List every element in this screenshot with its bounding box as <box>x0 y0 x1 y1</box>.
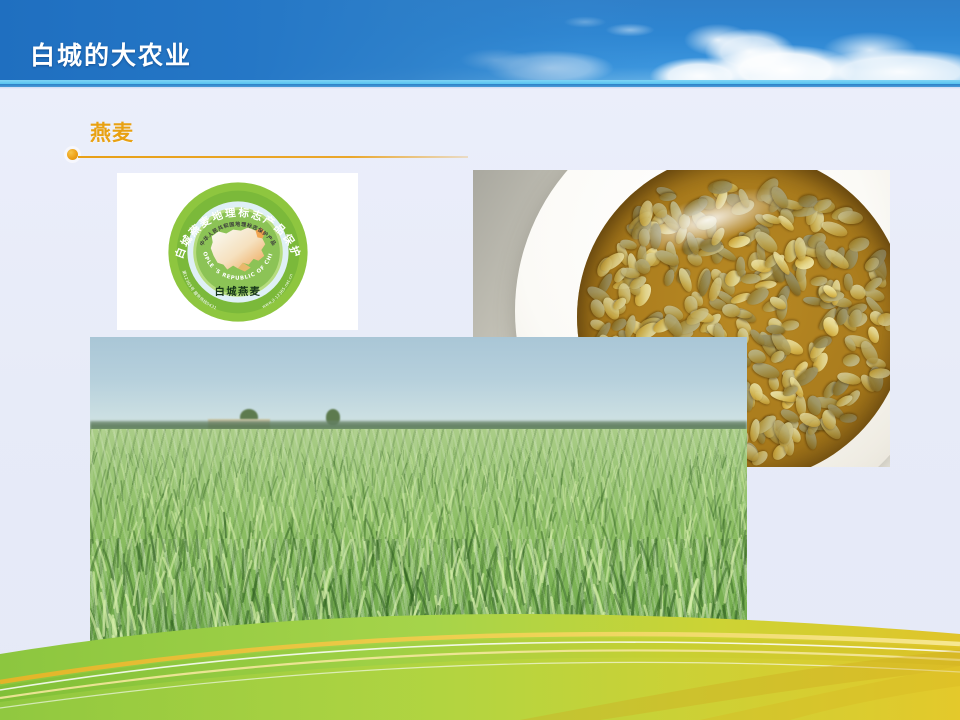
oat-stalk <box>680 599 683 634</box>
oat-stalk <box>531 451 535 462</box>
oat-stalk <box>548 586 549 620</box>
oat-stalk <box>449 515 454 540</box>
oat-stalk <box>444 500 445 523</box>
oat-stalk <box>722 631 724 659</box>
oat-stalk <box>626 492 627 514</box>
oat-stalk <box>121 464 125 480</box>
oat-stalk <box>145 447 146 454</box>
oat-stalk <box>341 499 343 522</box>
oat-stalk <box>384 498 390 521</box>
oat-stalk <box>378 612 391 648</box>
oat-stalk <box>117 499 120 522</box>
oat-stalk <box>141 476 144 495</box>
oat-stalk <box>495 501 498 524</box>
oat-stalk <box>694 449 695 458</box>
oat-stalk <box>589 448 590 456</box>
oat-stalk <box>230 523 238 549</box>
geographical-indication-seal: 白城燕麦地理标志产品保护 中华人民共和国地理标志保护产品 PEOPLE ′S R… <box>117 173 358 330</box>
oat-stalk <box>480 488 487 509</box>
oat-stalk <box>715 496 716 518</box>
oat-stalk <box>210 502 211 525</box>
oat-stalk <box>647 501 648 524</box>
oat-stalk <box>563 485 565 505</box>
oat-stalk <box>472 603 474 638</box>
oat-stalk <box>373 502 379 525</box>
oat-stalk <box>646 450 649 460</box>
oat-stalk <box>645 606 653 641</box>
oat-stalk <box>136 471 138 488</box>
oat-stalk <box>542 532 547 560</box>
oat-stalk <box>594 525 600 552</box>
oat-stalk <box>284 550 290 580</box>
oat-stalk <box>512 477 514 496</box>
oat-stalk <box>499 498 507 521</box>
oat-stalk <box>304 618 309 655</box>
oat-stalk <box>285 448 288 456</box>
oat-stalk <box>280 528 290 555</box>
oat-stalk <box>745 536 746 564</box>
oat-stalk <box>730 448 733 457</box>
oat-stalk <box>404 448 405 457</box>
oat-stalk <box>555 461 557 476</box>
oat-stalk <box>459 625 469 659</box>
oat-stalk <box>280 634 282 659</box>
oat-stalk <box>291 462 293 477</box>
oat-stalk <box>218 472 223 490</box>
oat-stalk <box>551 459 552 473</box>
oat-stalk <box>740 512 741 537</box>
oat-stalk <box>347 457 348 470</box>
oat-stalk <box>563 450 566 460</box>
oat-stalk <box>235 452 239 463</box>
oat-stalk <box>113 616 115 652</box>
oat-stalk <box>151 460 152 475</box>
oat-stalk <box>157 464 163 480</box>
oat-stalk <box>195 447 196 454</box>
oat-stalk <box>172 563 181 594</box>
oat-stalk <box>661 620 666 657</box>
oat-stalk <box>524 475 528 493</box>
oat-stalk <box>138 447 139 454</box>
oat-stalk <box>430 657 433 659</box>
oat-stalk <box>204 502 207 525</box>
oat-stalk <box>255 456 258 469</box>
oat-stalk <box>95 447 97 453</box>
oat-stalk <box>678 450 679 460</box>
oat-stalk <box>107 451 111 462</box>
oat-stalk <box>707 461 712 476</box>
oat-stalk <box>218 515 219 540</box>
oat-stalk <box>138 544 140 573</box>
oat-stalk <box>424 460 425 475</box>
oat-stalk <box>391 542 396 571</box>
oat-stalk <box>142 459 146 473</box>
oat-stalk <box>685 515 686 540</box>
oat-stalk <box>409 653 420 659</box>
oat-stalk <box>138 650 149 659</box>
oat-stalk <box>460 453 464 465</box>
oat-stalk <box>287 579 292 612</box>
field-sky <box>90 337 747 431</box>
oat-stalk <box>146 545 150 574</box>
oat-stalk <box>114 467 116 484</box>
oat-stalk <box>496 623 498 659</box>
oat-crop <box>90 429 747 659</box>
oat-stalk <box>435 448 436 456</box>
oat-stalk <box>365 515 366 540</box>
oat-stalk <box>340 449 341 458</box>
oat-stalk <box>168 646 176 660</box>
oat-stalk <box>315 447 316 454</box>
oat-stalk <box>106 484 110 504</box>
oat-stalk <box>715 447 716 453</box>
oat-stalk <box>351 533 358 561</box>
oat-stalk <box>132 449 134 458</box>
oat-stalk <box>217 557 226 588</box>
oat-stalk <box>208 593 216 627</box>
oat-stalk <box>619 449 621 458</box>
oat-stalk <box>277 456 280 469</box>
oat-stalk <box>192 449 194 459</box>
oat-stalk <box>136 455 139 468</box>
oat-stalk <box>319 448 321 456</box>
oat-field-photo <box>90 337 747 659</box>
oat-stalk <box>280 507 283 531</box>
oat-flake <box>663 269 676 288</box>
oat-stalk <box>128 506 133 530</box>
oat-stalk <box>618 469 620 486</box>
oat-stalk <box>448 447 449 454</box>
oat-stalk <box>531 658 532 660</box>
oat-stalk <box>578 601 584 636</box>
oat-stalk <box>500 472 501 490</box>
oat-stalk <box>280 462 285 477</box>
oat-stalk <box>293 480 296 499</box>
oat-flake <box>727 234 751 250</box>
oat-stalk <box>400 447 401 454</box>
oat-stalk <box>575 447 577 454</box>
oat-stalk <box>288 468 290 485</box>
oat-stalk <box>636 455 639 468</box>
oat-stalk <box>411 512 413 537</box>
seal-product-name: 白城燕麦 <box>214 284 261 297</box>
oat-stalk <box>314 535 318 563</box>
oat-stalk <box>682 451 683 462</box>
oat-stalk <box>576 584 581 617</box>
oat-stalk <box>451 489 453 510</box>
oat-stalk <box>361 447 362 454</box>
oat-stalk <box>472 447 475 454</box>
oat-stalk <box>621 455 622 467</box>
oat-stalk <box>585 473 588 491</box>
oat-stalk <box>473 565 474 596</box>
oat-stalk <box>501 473 505 491</box>
oat-stalk <box>682 478 686 497</box>
oat-stalk <box>101 470 105 487</box>
oat-stalk <box>209 475 211 493</box>
bullet-dot-icon <box>67 149 78 160</box>
oat-stalk <box>518 638 528 659</box>
oat-stalk <box>435 483 438 503</box>
oat-stalk <box>329 480 333 500</box>
oat-stalk <box>454 469 458 486</box>
oat-stalk <box>451 571 456 603</box>
oat-stalk <box>341 528 345 555</box>
oat-stalk <box>386 597 388 632</box>
oat-stalk <box>207 642 219 659</box>
oat-stalk <box>118 539 119 567</box>
oat-stalk <box>353 493 356 515</box>
oat-stalk <box>712 449 715 458</box>
oat-stalk <box>376 474 377 492</box>
oat-stalk <box>193 460 194 474</box>
oat-flake <box>736 257 745 277</box>
oat-stalk <box>236 478 237 497</box>
oat-stalk <box>385 477 386 496</box>
oat-stalk <box>341 576 343 609</box>
oat-stalk <box>420 473 422 491</box>
oat-stalk <box>397 454 401 466</box>
oat-stalk <box>601 460 602 475</box>
oat-stalk <box>94 452 97 463</box>
oat-stalk <box>578 643 582 660</box>
oat-stalk <box>195 508 203 532</box>
oat-stalk <box>540 447 542 454</box>
oat-stalk <box>555 449 557 458</box>
oat-stalk <box>91 452 92 463</box>
oat-stalk <box>385 454 387 466</box>
oat-stalk <box>90 517 93 543</box>
oat-stalk <box>372 468 373 485</box>
oat-stalk <box>702 474 706 492</box>
oat-stalk <box>418 479 420 498</box>
oat-stalk <box>446 483 447 503</box>
oat-stalk <box>713 460 717 474</box>
oat-stalk <box>238 490 241 511</box>
oat-flake <box>638 228 650 246</box>
oat-stalk <box>174 580 175 613</box>
page-title: 白城的大农业 <box>30 36 192 72</box>
oat-stalk <box>661 576 663 609</box>
oat-stalk <box>487 473 489 491</box>
oat-stalk <box>393 619 402 656</box>
oat-stalk <box>446 564 449 595</box>
oat-stalk <box>264 457 268 471</box>
oat-stalk <box>281 449 282 458</box>
oat-stalk <box>588 636 602 659</box>
oat-stalk <box>162 456 166 469</box>
oat-stalk <box>226 589 230 623</box>
oat-stalk <box>490 447 491 453</box>
gi-seal-graphic: 白城燕麦地理标志产品保护 中华人民共和国地理标志保护产品 PEOPLE ′S R… <box>165 179 311 325</box>
oat-stalk <box>259 540 260 569</box>
oat-stalk <box>604 656 617 659</box>
oat-stalk <box>736 635 747 659</box>
oat-stalk <box>675 449 676 458</box>
oat-stalk <box>610 584 621 617</box>
oat-stalk <box>184 473 186 491</box>
oat-stalk <box>349 570 350 602</box>
oat-stalk <box>490 453 494 465</box>
oat-stalk <box>393 451 395 462</box>
oat-flake <box>837 210 863 225</box>
oat-stalk <box>733 455 735 467</box>
oat-stalk <box>376 447 378 453</box>
oat-stalk <box>605 499 607 522</box>
oat-stalk <box>561 525 567 552</box>
oat-stalk <box>373 538 374 566</box>
oat-stalk <box>387 515 392 540</box>
oat-stalk <box>580 461 585 476</box>
oat-stalk <box>570 606 572 641</box>
oat-stalk <box>106 447 107 453</box>
oat-stalk <box>121 481 123 501</box>
oat-stalk <box>546 463 549 478</box>
oat-stalk <box>701 562 703 593</box>
oat-stalk <box>92 451 93 462</box>
oat-stalk <box>179 480 181 499</box>
oat-stalk <box>640 634 643 659</box>
oat-stalk <box>94 656 102 659</box>
oat-stalk <box>735 468 736 485</box>
oat-stalk <box>738 452 741 463</box>
oat-stalk <box>594 588 603 622</box>
oat-stalk <box>731 536 741 564</box>
oat-stalk <box>514 550 516 580</box>
oat-stalk <box>420 635 422 659</box>
oat-stalk <box>516 530 519 557</box>
oat-stalk <box>676 635 684 659</box>
oat-stalk <box>632 583 634 616</box>
oat-stalk <box>99 448 100 456</box>
oat-flake <box>840 414 857 424</box>
oat-stalk <box>435 606 438 642</box>
oat-stalk <box>271 448 273 456</box>
oat-stalk <box>151 532 154 560</box>
oat-stalk <box>719 507 721 531</box>
oat-stalk <box>391 509 396 534</box>
oat-stalk <box>282 483 286 503</box>
oat-stalk <box>358 450 360 460</box>
oat-stalk <box>469 602 470 637</box>
oat-stalk <box>260 457 263 470</box>
oat-stalk <box>331 587 340 621</box>
oat-stalk <box>262 524 272 551</box>
oat-stalk <box>273 453 274 465</box>
oat-stalk <box>331 503 333 527</box>
oat-stalk <box>254 495 255 517</box>
oat-stalk <box>602 502 604 525</box>
oat-stalks <box>90 429 747 659</box>
oat-stalk <box>210 538 212 566</box>
oat-stalk <box>464 457 465 470</box>
oat-stalk <box>362 479 365 498</box>
oat-stalk <box>332 467 335 483</box>
oat-stalk <box>229 518 231 544</box>
oat-stalk <box>724 463 730 478</box>
slide-canvas: 白城的大农业 燕麦 <box>0 0 960 720</box>
oat-stalk <box>526 502 527 525</box>
oat-stalk <box>103 447 106 454</box>
oat-stalk <box>571 447 573 453</box>
oat-stalk <box>143 499 145 522</box>
oat-stalk <box>478 455 481 468</box>
oat-stalk <box>370 498 372 521</box>
oat-stalk <box>292 609 294 645</box>
section-subtitle: 燕麦 <box>90 117 134 147</box>
oat-stalk <box>122 641 123 659</box>
oat-stalk <box>431 453 432 465</box>
oat-stalk <box>273 507 276 531</box>
oat-stalk <box>656 538 658 566</box>
oat-stalk <box>125 563 133 594</box>
oat-stalk <box>560 479 562 498</box>
oat-stalk <box>407 512 408 537</box>
oat-stalk <box>724 449 726 458</box>
oat-stalk <box>416 496 423 518</box>
oat-stalk <box>164 594 167 628</box>
oat-stalk <box>194 457 195 471</box>
oat-stalk <box>482 476 485 495</box>
oat-stalk <box>96 542 106 571</box>
slide-header: 白城的大农业 <box>0 0 960 86</box>
oat-stalk <box>526 458 530 472</box>
oat-stalk <box>271 461 272 476</box>
oat-stalk <box>601 523 611 549</box>
oat-stalk <box>741 577 744 610</box>
oat-stalk <box>94 491 99 512</box>
oat-stalk <box>497 450 499 460</box>
oat-stalk <box>107 464 109 480</box>
oat-stalk <box>286 658 298 659</box>
oat-stalk <box>711 480 714 499</box>
oat-stalk <box>466 507 469 531</box>
oat-stalk <box>380 451 381 461</box>
oat-stalk <box>422 447 424 454</box>
oat-stalk <box>671 475 674 493</box>
oat-stalk <box>182 657 186 659</box>
oat-flake <box>650 223 661 249</box>
oat-stalk <box>400 546 404 575</box>
oat-stalk <box>514 499 520 522</box>
oat-stalk <box>268 598 269 633</box>
oat-stalk <box>716 469 717 486</box>
oat-stalk <box>623 541 624 570</box>
oat-stalk <box>697 579 698 612</box>
oat-stalk <box>677 518 679 544</box>
oat-stalk <box>470 458 475 472</box>
subtitle-underline <box>78 156 468 158</box>
oat-stalk <box>415 450 418 460</box>
oat-stalk <box>706 512 710 537</box>
oat-stalk <box>354 460 357 474</box>
oat-stalk <box>409 538 410 566</box>
oat-stalk <box>331 524 340 551</box>
oat-stalk <box>282 450 284 460</box>
oat-stalk <box>506 464 508 480</box>
oat-stalk <box>269 561 277 592</box>
oat-stalk <box>184 542 186 571</box>
oat-stalk <box>196 478 199 497</box>
oat-stalk <box>704 453 707 465</box>
oat-stalk <box>487 547 496 576</box>
oat-stalk <box>497 591 508 625</box>
oat-stalk <box>166 494 172 516</box>
oat-stalk <box>421 568 429 600</box>
oat-stalk <box>558 447 559 454</box>
oat-stalk <box>625 448 627 456</box>
oat-flake <box>843 352 862 367</box>
